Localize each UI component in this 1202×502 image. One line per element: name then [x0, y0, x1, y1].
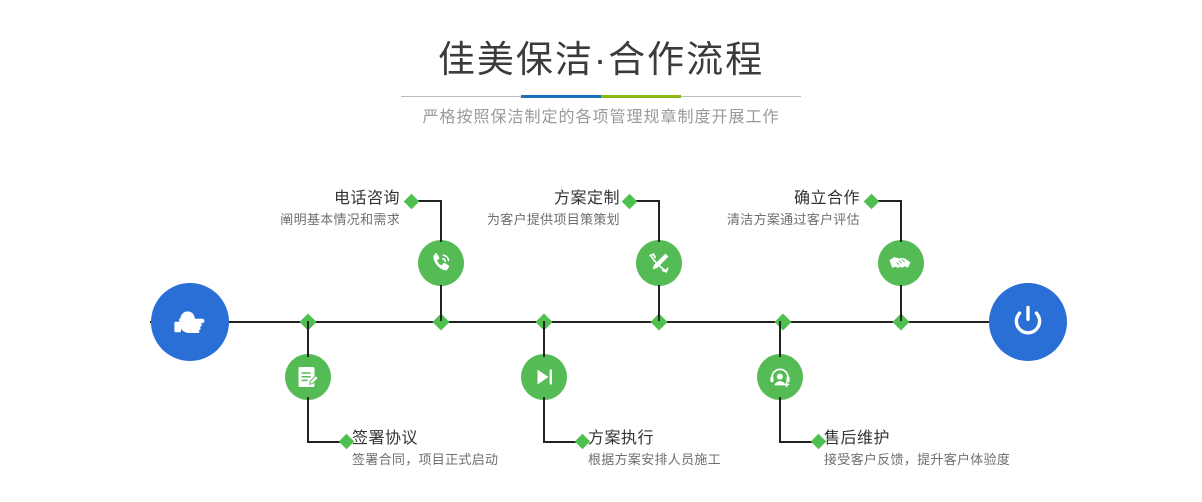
step-label-2: 签署协议 签署合同，项目正式启动	[352, 428, 602, 470]
play-execute-icon	[531, 364, 557, 390]
step-diamond-5	[864, 194, 880, 210]
step-label-4: 方案执行 根据方案安排人员施工	[588, 428, 838, 470]
phone-call-icon	[427, 249, 455, 277]
step-node-2[interactable]	[285, 354, 331, 400]
axis-marker-5	[775, 314, 792, 331]
step-label-6: 售后维护 接受客户反馈，提升客户体验度	[824, 428, 1104, 470]
step-node-3[interactable]	[636, 240, 682, 286]
step-stem-6	[779, 397, 781, 442]
pencil-design-icon	[645, 249, 673, 277]
step-title-3: 方案定制	[375, 188, 620, 210]
contract-edit-icon	[295, 364, 321, 390]
customer-support-icon	[767, 364, 793, 390]
step-node-6[interactable]	[757, 354, 803, 400]
step-stem-2-upper	[307, 321, 309, 357]
step-label-5: 确立合作 清洁方案通过客户评估	[615, 188, 860, 230]
step-title-4: 方案执行	[588, 428, 838, 450]
timeline-end-node[interactable]	[989, 283, 1067, 361]
step-subtitle-3: 为客户提供项目策策划	[375, 210, 620, 230]
infographic-canvas: 佳美保洁·合作流程 严格按照保洁制定的各项管理规章制度开展工作	[0, 0, 1202, 502]
power-icon	[1006, 300, 1050, 344]
title-divider	[401, 95, 801, 98]
step-stem-2	[307, 397, 309, 442]
step-stem-3-lower	[658, 285, 660, 321]
step-title-5: 确立合作	[615, 188, 860, 210]
step-stem-6-upper	[779, 321, 781, 357]
step-title-2: 签署协议	[352, 428, 602, 450]
step-label-3: 方案定制 为客户提供项目策策划	[375, 188, 620, 230]
step-stem-5	[900, 200, 902, 242]
timeline-start-node[interactable]	[151, 283, 229, 361]
step-node-5[interactable]	[878, 240, 924, 286]
handshake-icon	[887, 249, 915, 277]
step-node-4[interactable]	[521, 354, 567, 400]
divider-segment-green	[601, 95, 681, 98]
step-node-1[interactable]	[418, 240, 464, 286]
page-subtitle: 严格按照保洁制定的各项管理规章制度开展工作	[0, 106, 1202, 130]
divider-segment-blue	[521, 95, 601, 98]
step-stem-4-upper	[543, 321, 545, 357]
step-stem-1-lower	[440, 285, 442, 321]
step-title-6: 售后维护	[824, 428, 1104, 450]
step-label-1: 电话咨询 阐明基本情况和需求	[155, 188, 400, 230]
step-stem-4	[543, 397, 545, 442]
step-subtitle-1: 阐明基本情况和需求	[155, 210, 400, 230]
step-stem-5-lower	[900, 285, 902, 321]
step-subtitle-2: 签署合同，项目正式启动	[352, 450, 602, 470]
pointing-hand-icon	[169, 301, 211, 343]
step-subtitle-6: 接受客户反馈，提升客户体验度	[824, 450, 1104, 470]
step-subtitle-5: 清洁方案通过客户评估	[615, 210, 860, 230]
page-title: 佳美保洁·合作流程	[0, 38, 1202, 82]
timeline-axis	[150, 321, 1052, 323]
step-title-1: 电话咨询	[155, 188, 400, 210]
step-subtitle-4: 根据方案安排人员施工	[588, 450, 838, 470]
